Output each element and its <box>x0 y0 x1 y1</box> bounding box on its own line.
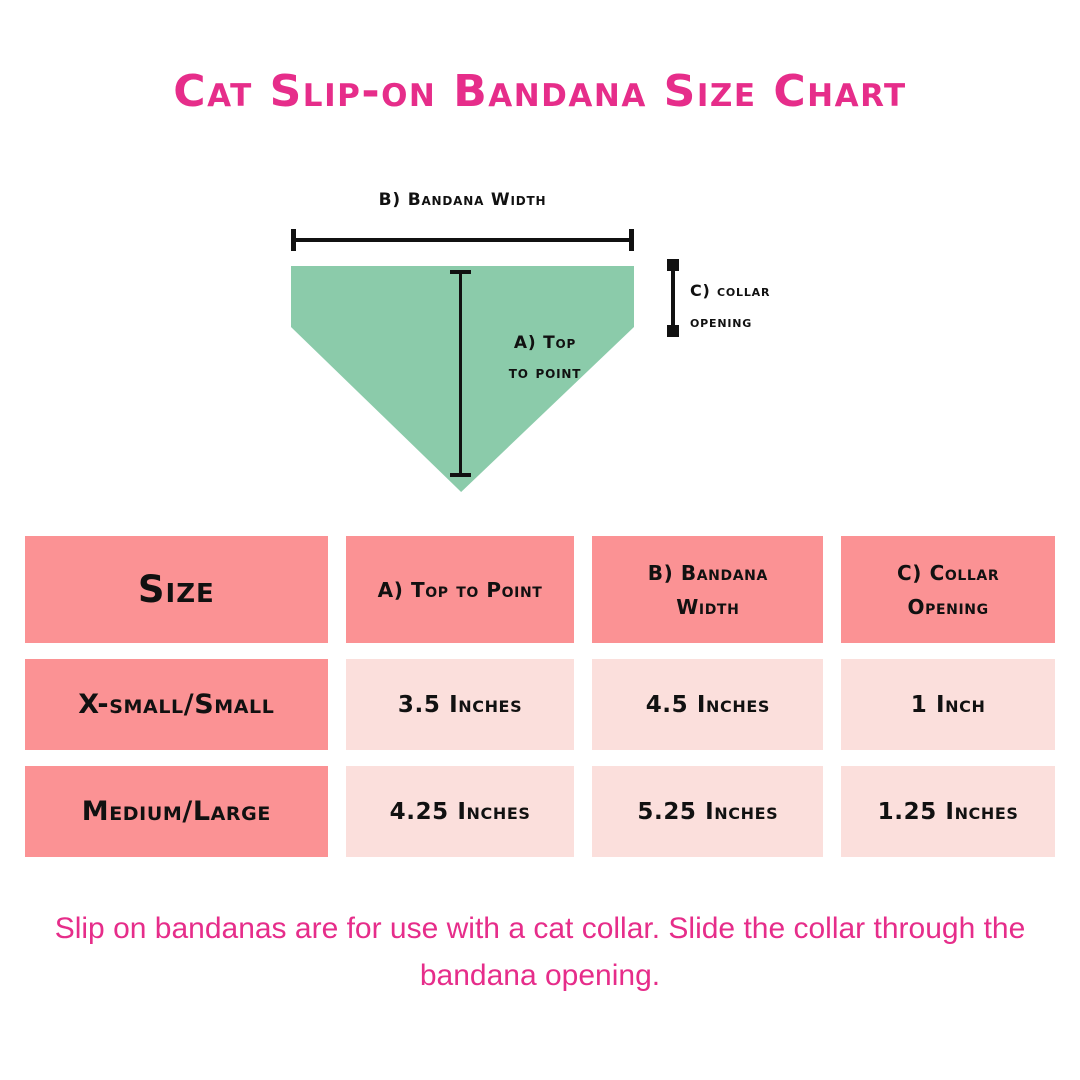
size-table: Size A) Top to Point B) Bandana Width C)… <box>25 536 1055 873</box>
collar-opening-label: C) collar opening <box>690 275 870 337</box>
collar-opening-measure-line <box>671 265 675 331</box>
row-0-size: X-small/Small <box>25 659 328 750</box>
top-to-point-measure-line <box>459 270 462 477</box>
row-1-size: Medium/Large <box>25 766 328 857</box>
header-cell-collar-opening-line1: C) Collar <box>897 556 999 590</box>
header-cell-bandana-width-line2: Width <box>648 590 768 624</box>
bandana-width-label: B) Bandana Width <box>291 190 634 210</box>
row-0-top-to-point: 3.5 Inches <box>346 659 575 750</box>
bandana-width-measure-line <box>291 238 634 242</box>
bandana-diagram: B) Bandana Width A) Top to point C) coll… <box>0 190 1080 520</box>
header-cell-bandana-width-line1: B) Bandana <box>648 556 768 590</box>
header-cell-top-to-point: A) Top to Point <box>346 536 575 643</box>
row-1-top-to-point: 4.25 Inches <box>346 766 575 857</box>
footer-note: Slip on bandanas are for use with a cat … <box>40 905 1040 999</box>
header-cell-bandana-width: B) Bandana Width <box>592 536 823 643</box>
row-1-collar-opening: 1.25 Inches <box>841 766 1055 857</box>
top-to-point-label-line2: to point <box>470 358 620 388</box>
table-row: Medium/Large 4.25 Inches 5.25 Inches 1.2… <box>25 766 1055 857</box>
page-title: Cat Slip-on Bandana Size Chart <box>0 66 1080 117</box>
row-0-bandana-width: 4.5 Inches <box>592 659 823 750</box>
row-0-collar-opening: 1 Inch <box>841 659 1055 750</box>
top-to-point-label-line1: A) Top <box>470 328 620 358</box>
table-header-row: Size A) Top to Point B) Bandana Width C)… <box>25 536 1055 643</box>
top-to-point-label: A) Top to point <box>470 328 620 388</box>
header-cell-collar-opening-line2: Opening <box>897 590 999 624</box>
header-cell-collar-opening: C) Collar Opening <box>841 536 1055 643</box>
row-1-bandana-width: 5.25 Inches <box>592 766 823 857</box>
collar-opening-label-line2: opening <box>690 306 870 337</box>
collar-opening-label-line1: C) collar <box>690 275 870 306</box>
header-cell-size: Size <box>25 536 328 643</box>
table-row: X-small/Small 3.5 Inches 4.5 Inches 1 In… <box>25 659 1055 750</box>
